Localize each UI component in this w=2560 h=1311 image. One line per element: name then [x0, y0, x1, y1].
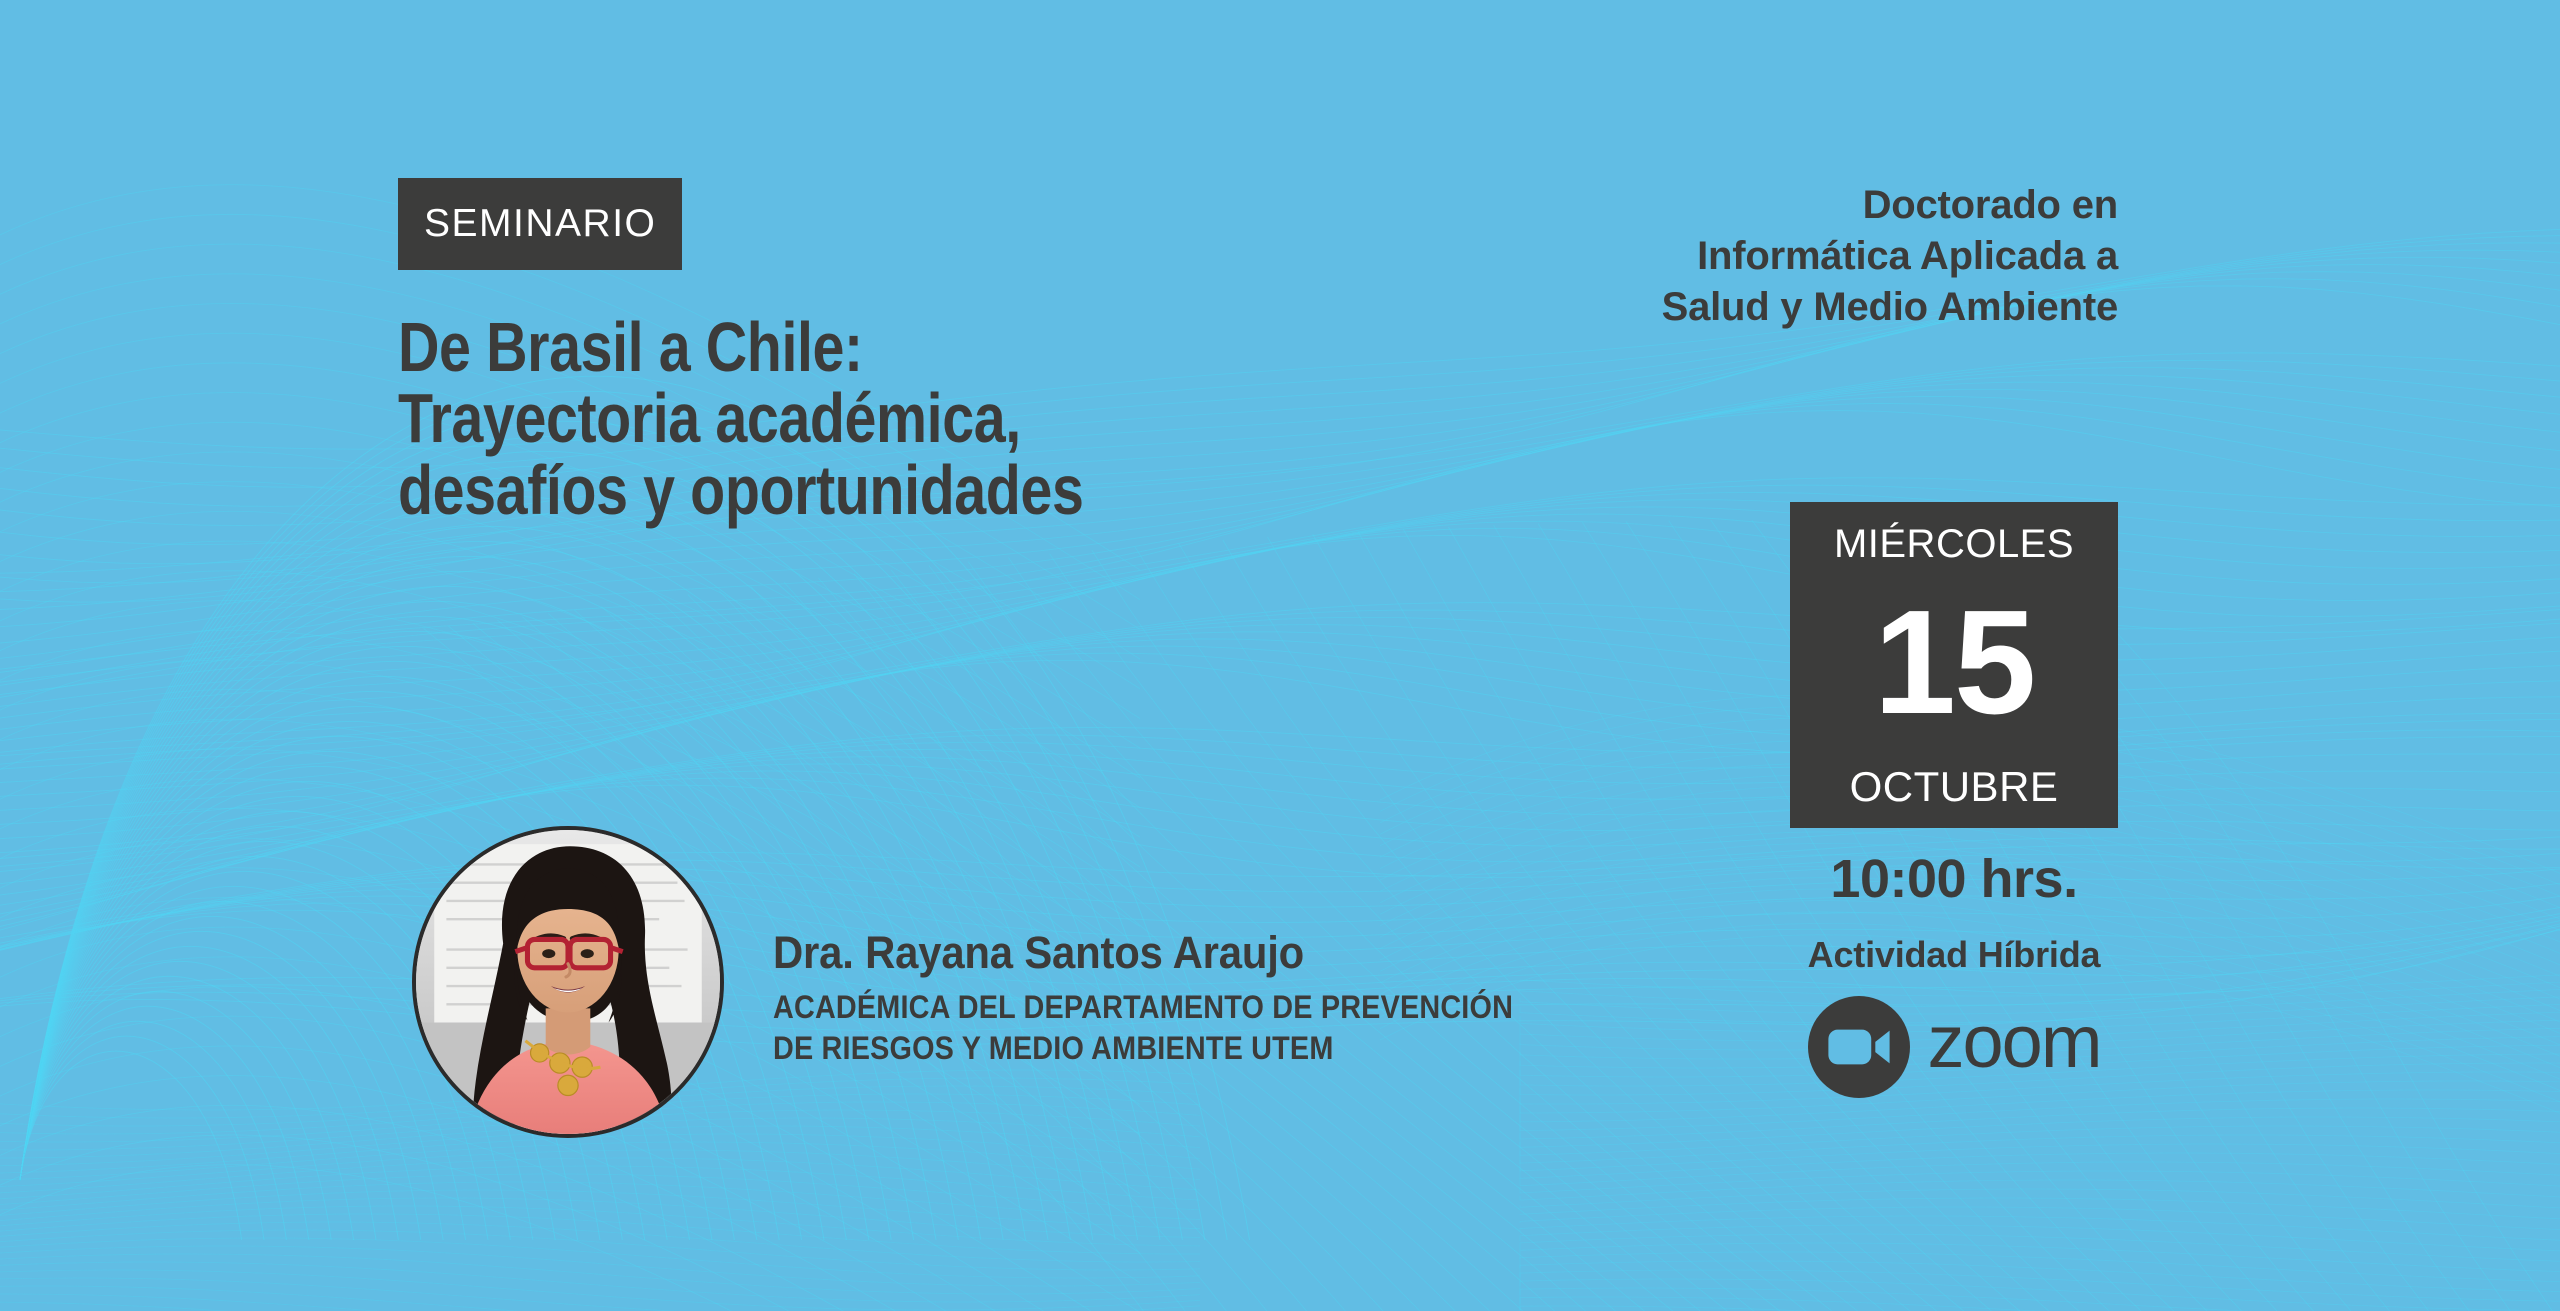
event-date-card: MIÉRCOLES 15 OCTUBRE	[1790, 502, 2118, 828]
speaker-role: ACADÉMICA DEL DEPARTAMENTO DE PREVENCIÓN…	[773, 987, 1601, 1069]
speaker-role-line-2: DE RIESGOS Y MEDIO AMBIENTE UTEM	[773, 1028, 1601, 1069]
zoom-wordmark: zoom	[1928, 1005, 2101, 1079]
zoom-logo: zoom	[1790, 995, 2118, 1099]
seminario-badge: SEMINARIO	[398, 178, 682, 270]
title-line-3: desafíos y oportunidades	[398, 455, 1300, 526]
title-line-2: Trayectoria académica,	[398, 383, 1300, 454]
zoom-camera-icon	[1808, 996, 1910, 1098]
event-time: 10:00 hrs.	[1790, 852, 2118, 906]
speaker-info: Dra. Rayana Santos Araujo ACADÉMICA DEL …	[773, 930, 1693, 1069]
event-month: OCTUBRE	[1850, 766, 2059, 808]
title-line-1: De Brasil a Chile:	[398, 312, 1300, 383]
speaker-portrait-photo	[416, 830, 720, 1134]
event-modality: Actividad Híbrida	[1790, 937, 2118, 973]
program-line-3: Salud y Medio Ambiente	[1218, 282, 2118, 333]
speaker-name: Dra. Rayana Santos Araujo	[773, 930, 1629, 975]
program-line-2: Informática Aplicada a	[1218, 231, 2118, 282]
program-line-1: Doctorado en	[1218, 180, 2118, 231]
event-weekday: MIÉRCOLES	[1834, 524, 2074, 564]
speaker-role-line-1: ACADÉMICA DEL DEPARTAMENTO DE PREVENCIÓN	[773, 987, 1601, 1028]
speaker-avatar	[412, 826, 724, 1138]
page-title: De Brasil a Chile: Trayectoria académica…	[398, 312, 1300, 526]
program-name: Doctorado en Informática Aplicada a Salu…	[1218, 180, 2118, 332]
event-day-number: 15	[1874, 598, 2035, 728]
